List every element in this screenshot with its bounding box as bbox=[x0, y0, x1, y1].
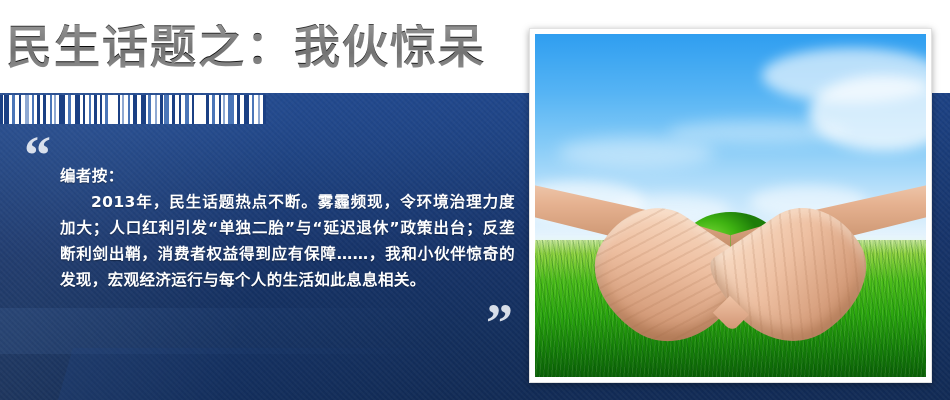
barcode-bar bbox=[206, 95, 209, 124]
barcode-bar bbox=[118, 95, 120, 124]
barcode-bar bbox=[252, 95, 254, 124]
barcode-bar bbox=[100, 95, 102, 124]
barcode-bar bbox=[164, 95, 169, 124]
barcode-bar bbox=[258, 95, 260, 124]
barcode-bar bbox=[94, 95, 97, 124]
barcode-bar bbox=[148, 95, 151, 124]
barcode-bar bbox=[179, 95, 181, 124]
barcode-bar bbox=[219, 95, 221, 124]
right-hand bbox=[731, 171, 927, 329]
barcode-bar bbox=[128, 95, 130, 124]
barcode-bar bbox=[160, 95, 163, 124]
page-title: 民生话题之：我伙惊呆 bbox=[6, 24, 486, 70]
barcode-bar bbox=[54, 95, 56, 124]
barcode-bar bbox=[122, 95, 124, 124]
barcode-bar bbox=[68, 95, 71, 124]
barcode-bar bbox=[244, 95, 249, 124]
barcode-bar bbox=[89, 95, 91, 124]
barcode-bar bbox=[19, 95, 21, 124]
barcode-bar bbox=[75, 95, 80, 124]
barcode-bar bbox=[212, 95, 215, 124]
barcode-bar bbox=[83, 95, 85, 124]
quote-open-mark: “ bbox=[24, 128, 51, 182]
barcode-bar bbox=[155, 95, 157, 124]
background-highlight-band bbox=[0, 308, 527, 354]
barcode-bar bbox=[192, 95, 194, 124]
editor-note: 编者按： 2013年，民生话题热点不断。雾霾频现，令环境治理力度加大；人口红利引… bbox=[60, 163, 515, 293]
barcode-bar bbox=[50, 95, 52, 124]
barcode-bar bbox=[228, 95, 234, 124]
cloud bbox=[668, 120, 848, 144]
barcode-bar bbox=[263, 95, 266, 124]
barcode-bar bbox=[105, 95, 108, 124]
barcode-bar bbox=[237, 95, 240, 124]
banner-canvas: 民生话题之：我伙惊呆 “ ” 编者按： 2013年，民生话题热点不断。雾霾频现，… bbox=[0, 0, 950, 400]
barcode-bar bbox=[25, 95, 29, 124]
editor-note-heading: 编者按： bbox=[60, 163, 515, 189]
left-hand bbox=[535, 171, 731, 329]
barcode-bar bbox=[172, 95, 175, 124]
editor-note-body: 2013年，民生话题热点不断。雾霾频现，令环境治理力度加大；人口红利引发“单独二… bbox=[60, 189, 515, 293]
barcode-bar bbox=[37, 95, 40, 124]
barcode-bar bbox=[223, 95, 225, 124]
barcode-bar bbox=[12, 95, 15, 124]
barcode-bar bbox=[43, 95, 46, 124]
barcode-bar bbox=[133, 95, 137, 124]
cloud bbox=[558, 137, 714, 168]
background-shadow-band bbox=[47, 348, 553, 400]
barcode-strip bbox=[0, 95, 266, 124]
barcode-bar bbox=[141, 95, 146, 124]
barcode-bar bbox=[4, 95, 9, 124]
barcode-bar bbox=[185, 95, 189, 124]
barcode-bar bbox=[0, 95, 3, 124]
photo-frame bbox=[529, 28, 932, 383]
hands-heart-tree-photo bbox=[535, 34, 926, 377]
barcode-bar bbox=[32, 95, 34, 124]
quote-close-mark: ” bbox=[486, 296, 513, 350]
barcode-bars bbox=[0, 95, 266, 124]
barcode-bar bbox=[59, 95, 65, 124]
